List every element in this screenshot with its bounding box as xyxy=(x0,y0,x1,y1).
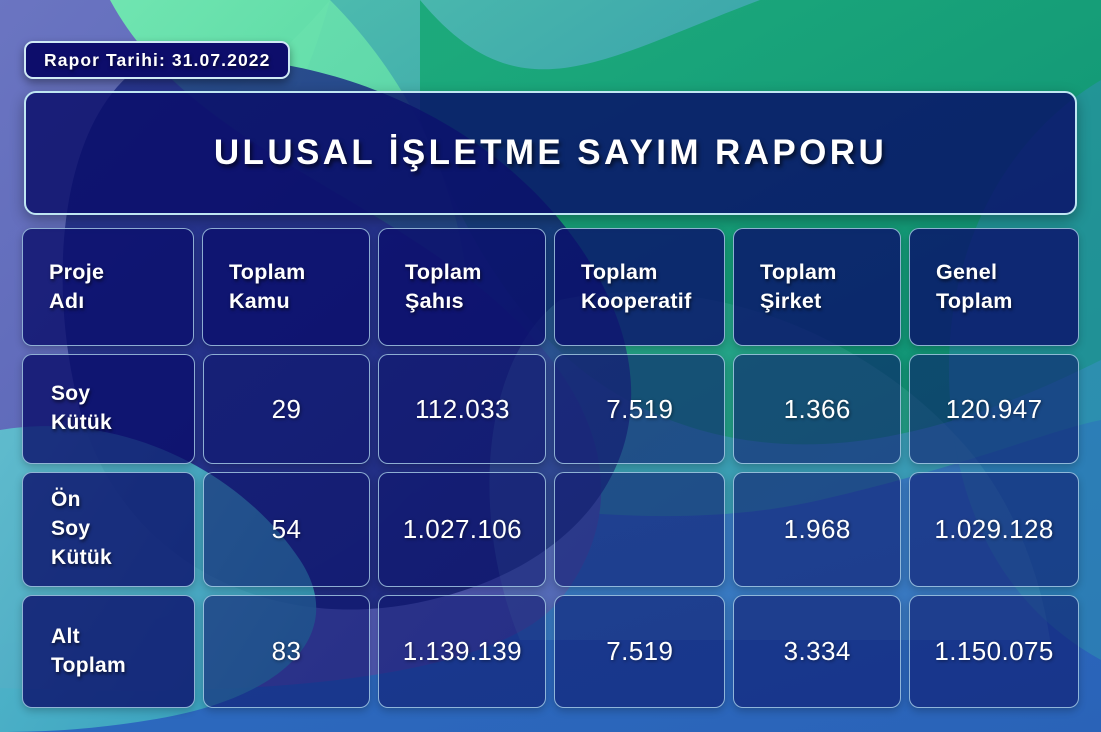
cell-alt-toplam-kooperatif: 7.519 xyxy=(554,595,725,708)
cell-on-soy-kutuk-genel-toplam: 1.029.128 xyxy=(909,472,1079,587)
cell-alt-toplam-genel-toplam: 1.150.075 xyxy=(909,595,1079,708)
cell-soy-kutuk-genel-toplam: 120.947 xyxy=(909,354,1079,464)
report-date-badge: Rapor Tarihi: 31.07.2022 xyxy=(24,41,290,79)
row-label-on-soy-kutuk: Ön Soy Kütük xyxy=(22,472,195,587)
table-row: Soy Kütük 29 112.033 7.519 1.366 120.947 xyxy=(22,354,1079,464)
table-header-row: Proje Adı Toplam Kamu Toplam Şahıs Topla… xyxy=(22,228,1079,346)
table-row: Alt Toplam 83 1.139.139 7.519 3.334 1.15… xyxy=(22,595,1079,708)
column-header-genel-toplam: Genel Toplam xyxy=(909,228,1079,346)
cell-soy-kutuk-sirket: 1.366 xyxy=(733,354,901,464)
cell-alt-toplam-sahis: 1.139.139 xyxy=(378,595,546,708)
column-header-proje-adi: Proje Adı xyxy=(22,228,194,346)
report-title-panel: ULUSAL İŞLETME SAYIM RAPORU xyxy=(24,91,1077,215)
column-header-toplam-kooperatif: Toplam Kooperatif xyxy=(554,228,725,346)
report-table: Proje Adı Toplam Kamu Toplam Şahıs Topla… xyxy=(22,228,1079,708)
cell-soy-kutuk-sahis: 112.033 xyxy=(378,354,546,464)
row-label-soy-kutuk: Soy Kütük xyxy=(22,354,195,464)
cell-on-soy-kutuk-sirket: 1.968 xyxy=(733,472,901,587)
page-title: ULUSAL İŞLETME SAYIM RAPORU xyxy=(214,133,887,173)
table-row: Ön Soy Kütük 54 1.027.106 1.968 1.029.12… xyxy=(22,472,1079,587)
cell-on-soy-kutuk-kamu: 54 xyxy=(203,472,371,587)
column-header-toplam-kamu: Toplam Kamu xyxy=(202,228,370,346)
cell-soy-kutuk-kamu: 29 xyxy=(203,354,371,464)
report-date-label: Rapor Tarihi: 31.07.2022 xyxy=(44,50,270,71)
cell-alt-toplam-kamu: 83 xyxy=(203,595,371,708)
cell-alt-toplam-sirket: 3.334 xyxy=(733,595,901,708)
row-label-alt-toplam: Alt Toplam xyxy=(22,595,195,708)
cell-on-soy-kutuk-kooperatif xyxy=(554,472,725,587)
column-header-toplam-sirket: Toplam Şirket xyxy=(733,228,901,346)
column-header-toplam-sahis: Toplam Şahıs xyxy=(378,228,546,346)
cell-on-soy-kutuk-sahis: 1.027.106 xyxy=(378,472,546,587)
report-page: Rapor Tarihi: 31.07.2022 ULUSAL İŞLETME … xyxy=(0,0,1101,732)
cell-soy-kutuk-kooperatif: 7.519 xyxy=(554,354,725,464)
